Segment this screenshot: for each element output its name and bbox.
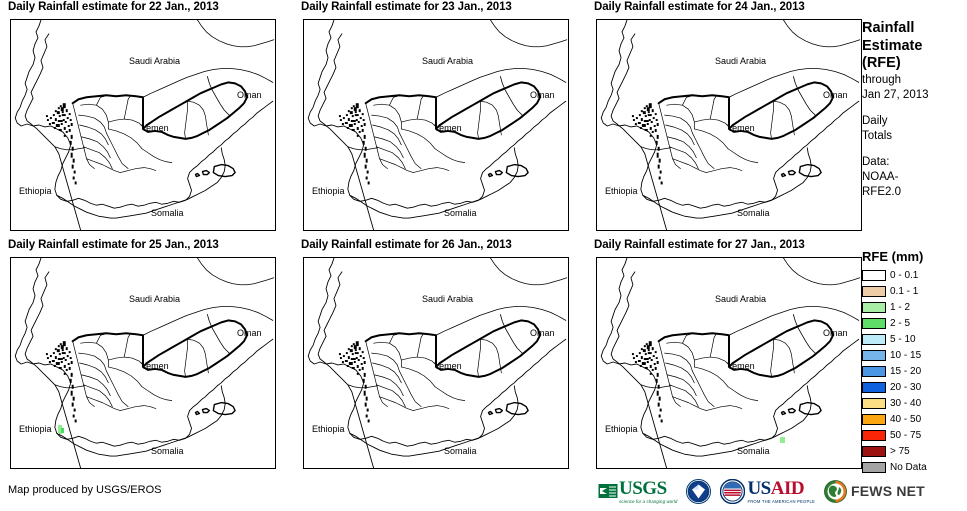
info-block: Rainfall Estimate (RFE) through Jan 27, … [862,20,965,200]
coastal-relief-pixel [645,367,648,369]
coastal-relief-pixel [353,105,355,107]
map-credit: Map produced by USGS/EROS [8,484,161,496]
coastal-relief-pixel [353,343,355,345]
legend-label: 20 - 30 [890,382,921,393]
coastal-relief-pixel [50,117,52,119]
usgs-mark-icon [598,481,618,501]
legend-row: No Data [862,460,965,475]
coastal-relief-pixel [60,105,62,107]
legend-label: No Data [890,462,927,473]
coastal-relief-pixel [65,359,67,361]
coastal-relief-pixel [70,379,72,383]
coastal-relief-pixel [56,362,60,365]
coastal-relief-pixel [339,115,341,117]
coastal-relief-pixel [641,118,643,121]
legend-swatch [862,462,886,473]
coastal-relief-pixel [641,356,643,359]
coastal-relief-pixel [650,135,652,137]
coastal-relief-pixel [640,365,642,367]
coastal-relief-pixel [652,131,654,133]
coastal-relief-pixel [357,127,359,130]
coastal-relief-pixel [642,362,646,365]
coastal-relief-pixel [60,343,62,345]
legend-row: 30 - 40 [862,396,965,411]
coastal-relief-pixel [59,353,61,355]
coastal-relief-pixel [644,345,646,347]
coastal-relief-pixel [645,353,647,355]
coastal-relief-pixel [72,403,74,407]
legend-row: 2 - 5 [862,316,965,331]
coastal-relief-pixel [52,122,55,124]
coastal-relief-pixel [46,115,48,117]
label-ethiopia: Ethiopia [605,424,638,434]
coastal-relief-pixel [73,415,75,418]
coastal-relief-pixel [347,127,349,129]
label-somalia: Somalia [444,446,477,456]
coastal-relief-pixel [55,110,57,112]
coastal-relief-pixel [73,159,75,163]
coastal-relief-pixel [647,361,649,363]
coastal-relief-pixel [651,121,653,123]
label-ethiopia: Ethiopia [19,424,52,434]
coastal-relief-pixel [50,355,52,357]
legend-swatch [862,270,886,281]
coastal-relief-pixel [340,119,342,121]
panel-title: Daily Rainfall estimate for 26 Jan., 201… [301,239,512,251]
coastal-relief-pixel [365,403,367,407]
coastal-relief-pixel [649,341,652,346]
coastal-relief-pixel [648,111,650,113]
label-yemen: Yemen [434,123,462,133]
usgs-logo[interactable]: USGS science for a changing world [598,479,677,504]
coastal-relief-pixel [348,348,350,350]
coastal-relief-pixel [58,358,63,360]
coastal-relief-pixel [354,123,356,125]
coastal-relief-pixel [658,403,660,407]
coastal-relief-pixel [647,123,649,125]
coastal-relief-pixel [66,109,68,112]
map-frame[interactable]: Saudi ArabiaOmanYemenEthiopiaSomalia [10,19,276,231]
coastal-relief-pixel [364,391,366,396]
coastal-relief-pixel [66,131,68,133]
coastal-relief-pixel [366,397,368,401]
coastal-relief-pixel [356,119,358,121]
coastal-relief-pixel [649,103,652,108]
label-somalia: Somalia [151,446,184,456]
rainfall-cell [61,428,64,433]
coastal-relief-pixel [363,379,365,383]
label-ethiopia: Ethiopia [19,186,52,196]
coastal-relief-pixel [656,119,658,121]
coastal-relief-pixel [358,359,360,361]
coastal-relief-pixel [368,181,370,184]
coastal-relief-pixel [645,115,647,117]
coastal-relief-pixel [646,105,648,107]
coastal-relief-pixel [648,114,652,116]
coastal-relief-pixel [657,391,659,396]
coastal-relief-pixel [359,347,361,350]
coastal-relief-pixel [345,122,348,124]
legend-label: 0 - 0.1 [890,270,918,281]
coastal-relief-pixel [657,153,659,158]
coastal-relief-pixel [355,349,357,351]
noaa-logo[interactable] [686,479,711,504]
coastal-relief-pixel [57,349,60,352]
panel-title: Daily Rainfall estimate for 22 Jan., 201… [8,1,219,13]
coastal-relief-pixel [67,117,69,119]
coastal-relief-pixel [652,347,654,350]
coastal-relief-pixel [345,360,348,362]
coastal-relief-pixel [633,357,635,359]
coastal-relief-pixel [650,365,652,368]
coastal-relief-pixel [632,353,634,355]
label-oman: Oman [823,90,848,100]
label-saudi-arabia: Saudi Arabia [715,56,766,66]
coastal-relief-pixel [74,171,76,174]
legend-row: 40 - 50 [862,412,965,427]
coastal-relief-pixel [644,120,649,122]
coastal-relief-pixel [359,109,361,112]
spacer-1 [862,103,965,114]
map-panel-6: Daily Rainfall estimate for 27 Jan., 201… [586,238,871,473]
coastal-relief-pixel [360,117,362,119]
legend-row: 20 - 30 [862,380,965,395]
coastal-relief-pixel [649,357,651,359]
legend-label: 0.1 - 1 [890,286,918,297]
coastal-relief-pixel [652,109,654,112]
coastal-relief-pixel [59,115,61,117]
coastal-relief-pixel [69,129,71,132]
legend-row: 50 - 75 [862,428,965,443]
coastal-relief-pixel [643,111,646,114]
legend-label: 5 - 10 [890,334,916,345]
coastal-relief-pixel [355,114,359,116]
coastal-relief-pixel [632,115,634,117]
coastal-relief-pixel [363,357,365,359]
coastal-relief-pixel [658,165,660,169]
coastal-relief-pixel [356,357,358,359]
coastal-relief-pixel [358,121,360,123]
coastal-relief-pixel [655,367,657,370]
coastal-relief-pixel [660,409,662,412]
coastal-relief-pixel [54,127,56,129]
coastal-relief-pixel [653,355,655,357]
coastal-relief-pixel [350,111,353,114]
label-somalia: Somalia [444,208,477,218]
coastal-relief-pixel [367,171,369,174]
coastal-relief-pixel [346,352,348,354]
legend-label: 30 - 40 [890,398,921,409]
legend-swatch [862,366,886,377]
coastal-relief-pixel [357,135,359,137]
coastal-relief-pixel [55,348,57,350]
coastal-relief-pixel [638,360,641,362]
coastal-relief-pixel [351,107,353,109]
legend-items: 0 - 0.10.1 - 11 - 22 - 55 - 1010 - 1515 … [862,268,965,475]
coastal-relief-pixel [362,367,364,370]
coastal-relief-pixel [339,353,341,355]
coastal-relief-pixel [659,415,661,418]
coastal-relief-pixel [660,171,662,174]
usgs-wordmark: USGS [619,479,667,498]
coastal-relief-pixel [658,385,660,389]
label-oman: Oman [530,328,555,338]
coastal-relief-pixel [351,345,353,347]
usaid-logo[interactable]: USAID FROM THE AMERICAN PEOPLE [720,479,815,504]
coastal-relief-pixel [639,352,641,354]
coastal-relief-pixel [72,385,74,389]
coastal-relief-pixel [58,345,60,347]
coastal-relief-pixel [56,124,60,127]
coastal-relief-pixel [659,397,661,401]
coastal-relief-pixel [355,111,357,113]
coastal-relief-pixel [651,359,653,361]
map-frame[interactable]: Saudi ArabiaOmanYemenEthiopiaSomalia [10,257,276,469]
legend-row: 0 - 0.1 [862,268,965,283]
coastal-relief-pixel [366,177,368,180]
coastal-relief-pixel [346,114,348,116]
coastal-relief-pixel [649,119,651,121]
usgs-tagline: science for a changing world [619,499,677,504]
usaid-word-aid: AID [771,478,804,499]
coastal-relief-pixel [362,129,364,132]
data-source-line-2: NOAA- [862,170,965,185]
coastal-relief-pixel [349,124,353,127]
coastal-relief-pixel [362,351,364,353]
coastal-relief-pixel [657,373,659,377]
coastal-relief-pixel [643,349,646,352]
coastal-relief-pixel [641,110,643,112]
coastal-relief-pixel [61,361,63,363]
coastal-relief-pixel [636,355,638,357]
coastal-relief-pixel [661,419,663,422]
coastal-relief-pixel [653,117,655,119]
coastal-relief-pixel [71,153,73,158]
legend-label: 15 - 20 [890,366,921,377]
legend-row: 0.1 - 1 [862,284,965,299]
legend-swatch [862,350,886,361]
label-saudi-arabia: Saudi Arabia [422,56,473,66]
map-frame[interactable]: Saudi ArabiaOmanYemenEthiopiaSomalia [596,19,862,231]
usaid-word-us: US [747,478,770,499]
coastal-relief-pixel [350,349,353,352]
coastal-relief-pixel [648,352,652,354]
coastal-relief-pixel [74,409,76,412]
coastal-relief-pixel [656,379,658,383]
coastal-relief-pixel [654,363,656,365]
coastal-relief-pixel [357,365,359,368]
label-saudi-arabia: Saudi Arabia [129,56,180,66]
coastal-relief-pixel [352,367,355,369]
coastal-relief-pixel [364,373,366,377]
fews-net-globe-icon [824,480,847,503]
usaid-seal-icon [720,479,745,504]
coastal-relief-pixel [58,120,63,122]
coastal-relief-pixel [69,113,71,115]
coastal-relief-pixel [650,373,652,375]
coastal-relief-pixel [639,114,641,116]
coastal-relief-pixel [59,129,62,131]
legend-row: 10 - 15 [862,348,965,363]
coastal-relief-pixel [58,107,60,109]
coastal-relief-pixel [61,123,63,125]
coastal-relief-pixel [657,123,659,126]
coastal-relief-pixel [70,141,72,145]
coastal-relief-pixel [73,177,75,180]
data-source-line-3: RFE2.0 [862,185,965,200]
coastal-relief-pixel [64,373,66,375]
label-oman: Oman [237,328,262,338]
coastal-relief-pixel [342,361,344,363]
coastal-relief-pixel [62,114,66,116]
coastal-relief-pixel [642,124,646,127]
rfe-title: Rainfall Estimate (RFE) [862,20,965,73]
coastal-relief-pixel [71,361,73,364]
legend-swatch [862,414,886,425]
coastal-relief-pixel [72,165,74,169]
coastal-relief-pixel [57,111,60,114]
map-frame[interactable]: Saudi ArabiaOmanYemenEthiopiaSomalia [303,19,569,231]
coastal-relief-pixel [655,129,657,132]
through-date: Jan 27, 2013 [862,88,965,103]
through-label: through [862,73,965,88]
label-ethiopia: Ethiopia [605,186,638,196]
coastal-relief-pixel [659,177,661,180]
label-yemen: Yemen [141,123,169,133]
coastal-relief-pixel [364,153,366,158]
coastal-relief-pixel [355,352,359,354]
logo-bar: USGS science for a changing world USAID … [598,475,925,507]
panel-title: Daily Rainfall estimate for 25 Jan., 201… [8,239,219,251]
coastal-relief-pixel [59,367,62,369]
coastal-relief-pixel [656,357,658,359]
coastal-relief-pixel [68,363,70,365]
coastal-relief-pixel [648,349,650,351]
label-oman: Oman [237,90,262,100]
period-line-1: Daily [862,114,965,129]
coastal-relief-pixel [65,121,67,123]
coastal-relief-pixel [356,341,359,346]
coastal-relief-pixel [69,351,71,353]
coastal-relief-pixel [47,357,49,359]
coastal-relief-pixel [644,107,646,109]
coastal-relief-pixel [361,125,363,127]
coastal-relief-pixel [52,360,55,362]
rainfall-cell [780,437,785,443]
coastal-relief-pixel [62,111,64,113]
legend-swatch [862,286,886,297]
usaid-tagline: FROM THE AMERICAN PEOPLE [747,499,815,504]
coastal-relief-pixel [342,123,344,125]
coastal-relief-pixel [340,357,342,359]
map-panel-grid: Daily Rainfall estimate for 22 Jan., 201… [0,0,855,470]
coastal-relief-pixel [62,349,64,351]
coastal-relief-pixel [640,127,642,129]
period-line-2: Totals [862,129,965,144]
coastal-relief-pixel [363,141,365,145]
coastal-relief-pixel [366,415,368,418]
coastal-relief-pixel [365,165,367,169]
legend-swatch [862,302,886,313]
coastal-relief-pixel [633,119,635,121]
legend-swatch [862,398,886,409]
data-source-label: Data: [862,155,965,170]
coastal-relief-pixel [352,353,354,355]
legend-row: 15 - 20 [862,364,965,379]
map-frame[interactable]: Saudi ArabiaOmanYemenEthiopiaSomalia [303,257,569,469]
legend-swatch [862,430,886,441]
panel-title: Daily Rainfall estimate for 24 Jan., 201… [594,1,805,13]
coastal-relief-pixel [55,356,57,359]
coastal-relief-pixel [54,365,56,367]
noaa-seal-icon [686,479,711,504]
legend-label: 10 - 15 [890,350,921,361]
legend-row: > 75 [862,444,965,459]
coastal-relief-pixel [69,367,71,370]
label-ethiopia: Ethiopia [312,424,345,434]
coastal-relief-pixel [71,391,73,396]
legend: RFE (mm) 0 - 0.10.1 - 11 - 22 - 55 - 101… [862,249,965,476]
map-panel-1: Daily Rainfall estimate for 22 Jan., 201… [0,0,285,235]
label-somalia: Somalia [151,208,184,218]
coastal-relief-pixel [659,159,661,163]
coastal-relief-pixel [657,361,659,364]
legend-label: 50 - 75 [890,430,921,441]
coastal-relief-pixel [348,110,350,112]
label-saudi-arabia: Saudi Arabia [715,294,766,304]
coastal-relief-pixel [354,361,356,363]
label-saudi-arabia: Saudi Arabia [129,294,180,304]
coastal-relief-pixel [348,356,350,359]
map-panel-2: Daily Rainfall estimate for 23 Jan., 201… [293,0,578,235]
map-frame[interactable]: Saudi ArabiaOmanYemenEthiopiaSomalia [596,257,862,469]
coastal-relief-pixel [46,353,48,355]
coastal-relief-pixel [359,131,361,133]
coastal-relief-pixel [352,115,354,117]
label-yemen: Yemen [727,361,755,371]
coastal-relief-pixel [658,147,660,151]
legend-label: 40 - 50 [890,414,921,425]
coastal-relief-pixel [64,365,66,368]
coastal-relief-pixel [638,122,641,124]
coastal-relief-pixel [71,373,73,377]
coastal-relief-pixel [67,355,69,357]
coastal-relief-pixel [73,397,75,401]
coastal-relief-pixel [53,352,55,354]
coastal-relief-pixel [53,114,55,116]
coastal-relief-pixel [357,373,359,375]
legend-swatch [862,382,886,393]
coastal-relief-pixel [352,129,355,131]
coastal-relief-pixel [641,348,643,350]
coastal-relief-pixel [66,347,68,350]
label-saudi-arabia: Saudi Arabia [422,294,473,304]
map-panel-5: Daily Rainfall estimate for 26 Jan., 201… [293,238,578,473]
coastal-relief-pixel [356,103,359,108]
label-oman: Oman [530,90,555,100]
coastal-relief-pixel [656,141,658,145]
coastal-relief-pixel [70,357,72,359]
coastal-relief-pixel [70,119,72,121]
label-yemen: Yemen [727,123,755,133]
coastal-relief-pixel [368,419,370,422]
coastal-relief-pixel [63,119,65,121]
legend-swatch [862,318,886,329]
coastal-relief-pixel [657,135,659,139]
legend-label: > 75 [890,446,910,457]
fews-net-logo[interactable]: FEWS NET [824,480,925,503]
coastal-relief-pixel [365,147,367,151]
